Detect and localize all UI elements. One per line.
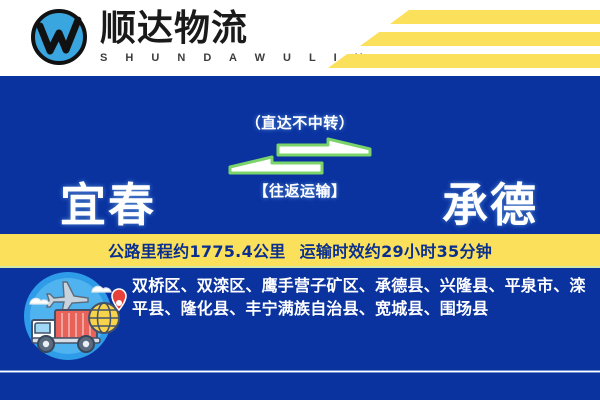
coverage-section: 双桥区、双滦区、鹰手营子矿区、承德县、兴隆县、平泉市、滦平县、隆化县、丰宁满族自… <box>0 268 600 368</box>
banner-body: 宜春 （直达不中转） 【往返运输】 承德 公路里程约1775.4公里 <box>0 76 600 400</box>
bottom-divider <box>0 370 600 373</box>
stripe-3 <box>328 54 600 68</box>
distance-label: 公路里程约1775.4公里 <box>108 238 286 262</box>
route-note-above: （直达不中转） <box>210 112 390 133</box>
origin-city: 宜春 <box>60 169 156 235</box>
coverage-areas: 双桥区、双滦区、鹰手营子矿区、承德县、兴隆县、平泉市、滦平县、隆化县、丰宁满族自… <box>132 274 592 320</box>
info-bar: 公路里程约1775.4公里 运输时效约29小时35分钟 <box>0 234 600 268</box>
duration-label: 运输时效约29小时35分钟 <box>300 238 492 262</box>
double-headed-arrow-icon <box>220 137 380 177</box>
route-middle: （直达不中转） 【往返运输】 <box>210 112 390 201</box>
brand-logo: 顺达物流 S H U N D A W U L I U <box>28 6 370 68</box>
stripe-2 <box>360 32 600 46</box>
swoosh-circle-logo-icon <box>28 6 90 68</box>
route-section: 宜春 （直达不中转） 【往返运输】 承德 <box>0 76 600 234</box>
header-stripes <box>320 6 600 68</box>
route-note-below: 【往返运输】 <box>210 180 390 201</box>
banner-header: 顺达物流 S H U N D A W U L I U <box>0 0 600 76</box>
destination-city: 承德 <box>442 169 538 235</box>
truck-plane-globe-icon <box>8 268 128 364</box>
stripe-1 <box>390 10 600 24</box>
logistics-banner: 顺达物流 S H U N D A W U L I U 宜春 （直达不中转） <box>0 0 600 400</box>
